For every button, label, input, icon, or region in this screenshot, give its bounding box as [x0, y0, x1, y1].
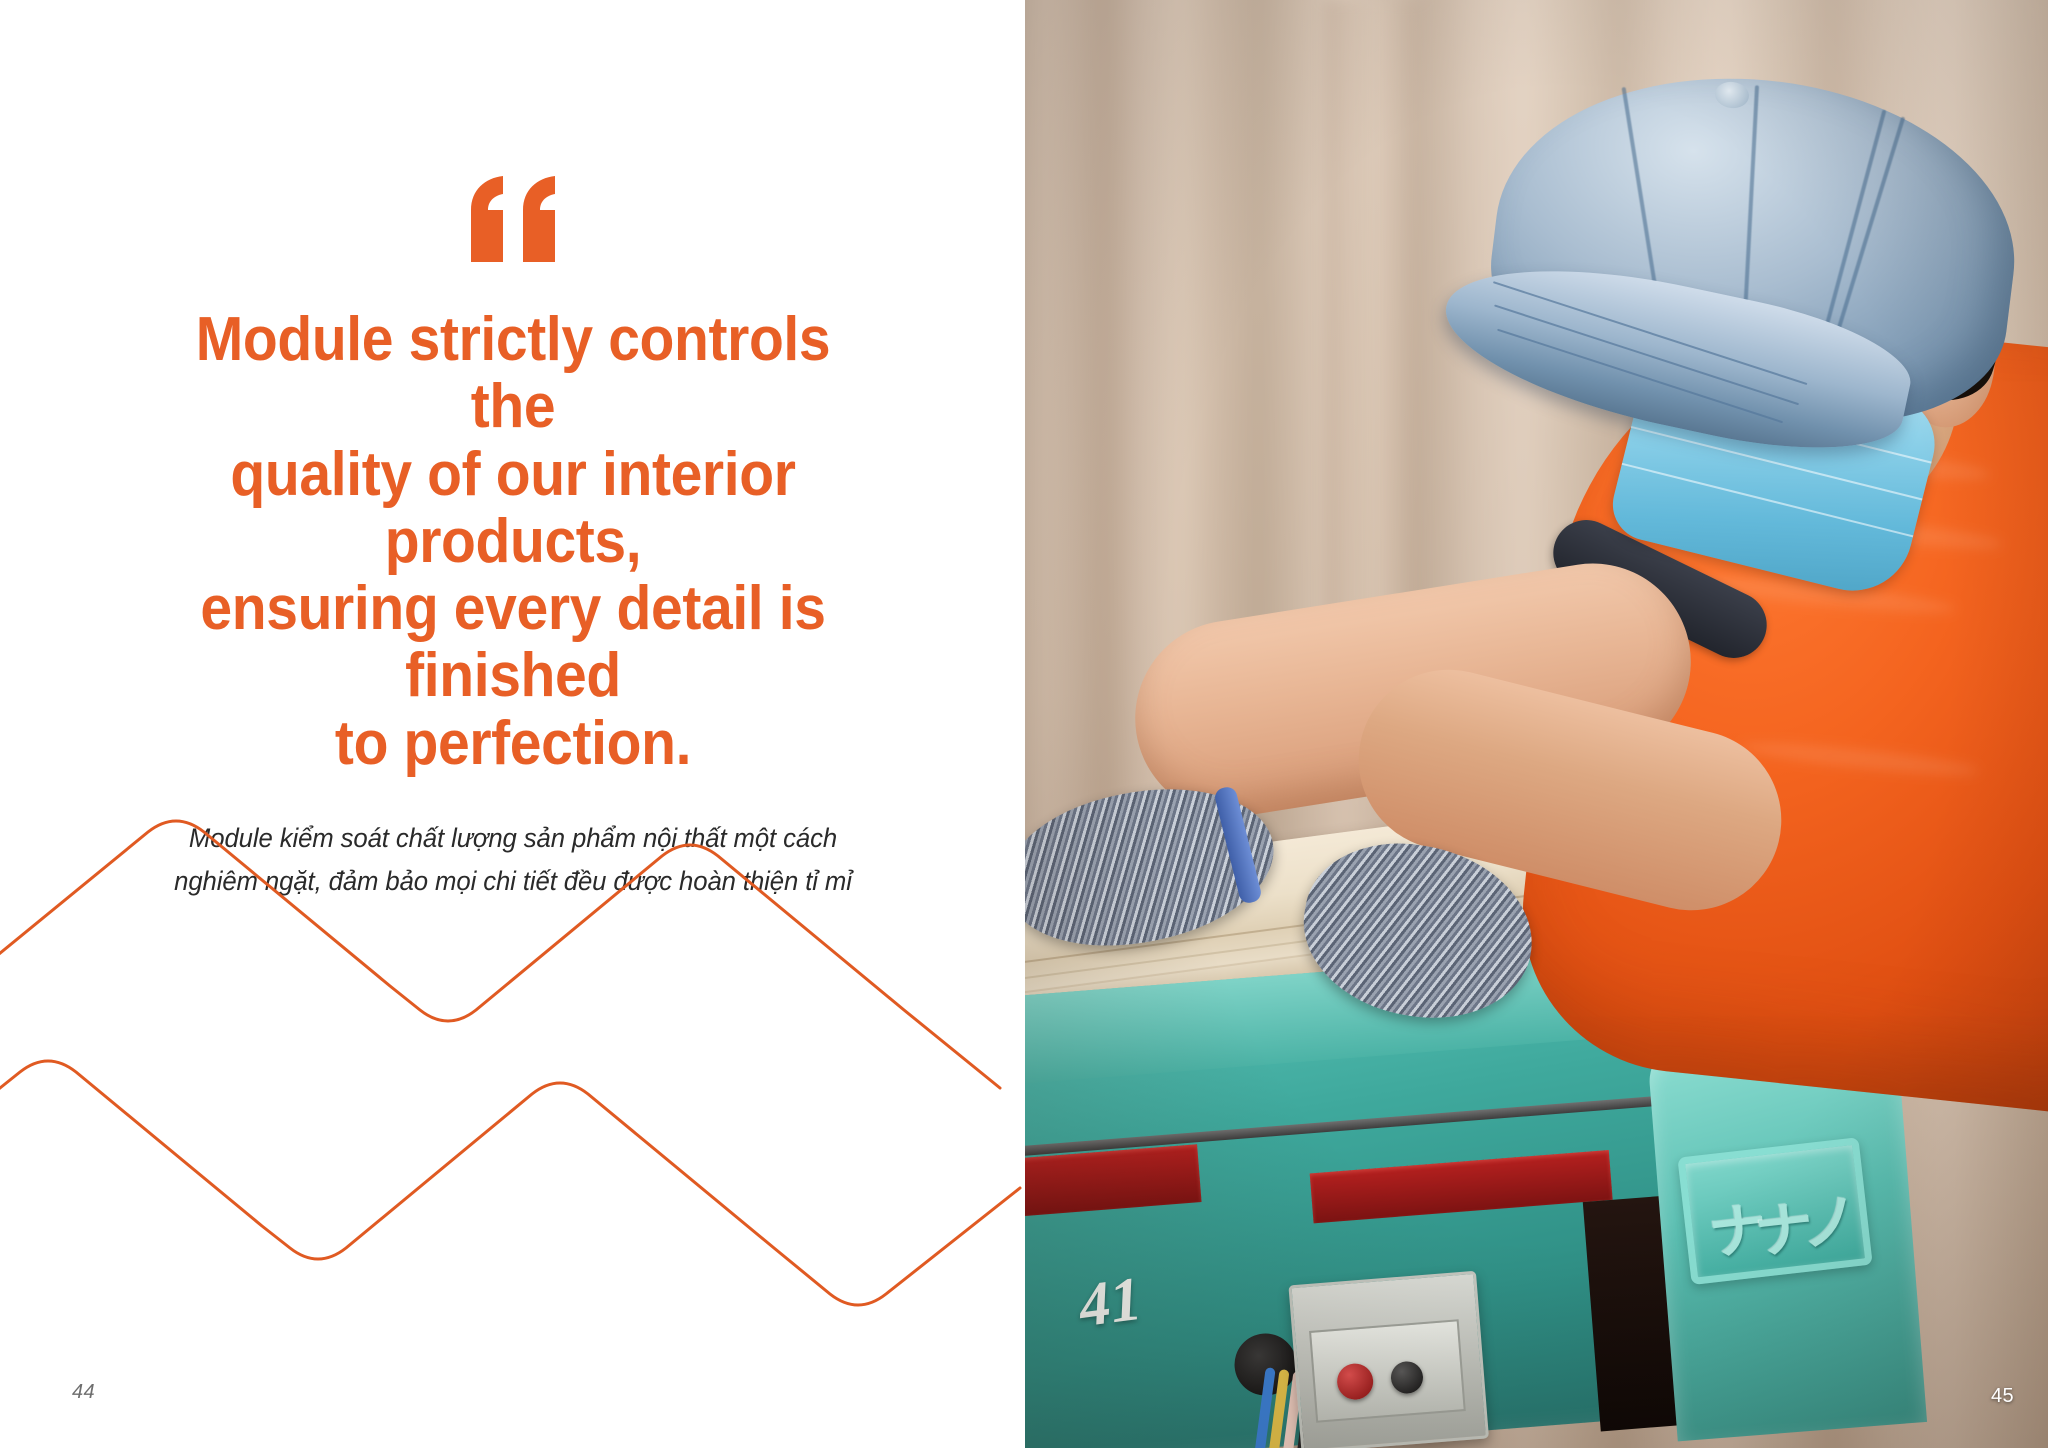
control-face-plate [1309, 1319, 1466, 1422]
start-button-icon[interactable] [1390, 1360, 1424, 1394]
quote-block: Module strictly controls the quality of … [0, 0, 1025, 903]
magazine-spread: Module strictly controls the quality of … [0, 0, 2048, 1448]
zigzag-chevron-lines [0, 810, 1025, 1448]
headline-line-4: to perfection. [334, 709, 690, 778]
machine-number-label: 41 [1075, 1264, 1146, 1342]
red-panel-center [1310, 1150, 1613, 1223]
page-number-right: 45 [1991, 1385, 2014, 1408]
headline-line-3: ensuring every detail is finished [200, 574, 825, 710]
page-number-left: 44 [72, 1381, 95, 1404]
left-page: Module strictly controls the quality of … [0, 0, 1025, 1448]
machine-nameplate: ナ ナ ノ [1677, 1137, 1872, 1285]
headline-line-1: Module strictly controls the [195, 305, 830, 441]
open-quote-icon [0, 176, 1025, 272]
page-title: Module strictly controls the quality of … [149, 306, 876, 777]
headline-line-2: quality of our interior products, [230, 440, 795, 576]
stop-button-icon[interactable] [1336, 1362, 1375, 1401]
machine-control-box[interactable] [1288, 1271, 1489, 1448]
workshop-carpenter-photo: 41 ナ ナ ノ [1025, 0, 2048, 1448]
red-panel-left [1025, 1144, 1202, 1221]
